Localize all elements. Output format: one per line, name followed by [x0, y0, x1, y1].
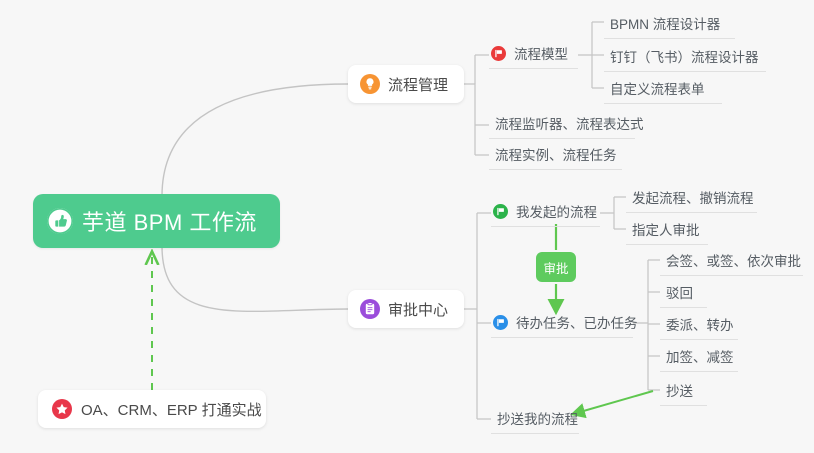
leaf-delegate-transfer[interactable]: 委派、转办 — [660, 312, 738, 340]
mindmap-canvas: 芋道 BPM 工作流 流程管理 流程模型 BPMN 流程设计器 钉钉（飞书）流程… — [0, 0, 814, 453]
leaf-process-model[interactable]: 流程模型 — [489, 41, 578, 69]
leaf-label-my-initiated-process: 我发起的流程 — [516, 201, 597, 221]
branch-label-approval-center: 审批中心 — [388, 299, 448, 320]
root-node[interactable]: 芋道 BPM 工作流 — [33, 194, 280, 248]
clipboard-icon — [360, 299, 380, 319]
arrow-cc-to-cc-my-process — [573, 391, 653, 414]
root-label: 芋道 BPM 工作流 — [82, 205, 257, 237]
leaf-label-process-model: 流程模型 — [514, 43, 568, 63]
branch-node-process-management[interactable]: 流程管理 — [348, 65, 464, 103]
flag-icon — [491, 46, 506, 61]
connector-approval-center-trunk — [462, 213, 477, 419]
branch-node-approval-center[interactable]: 审批中心 — [348, 290, 464, 328]
leaf-reject[interactable]: 驳回 — [660, 280, 707, 308]
connector-root-to-process-management — [162, 84, 348, 196]
callout-label-integration: OA、CRM、ERP 打通实战 — [81, 399, 262, 420]
leaf-cc-my-process[interactable]: 抄送我的流程 — [491, 406, 579, 434]
leaf-start-cancel-process[interactable]: 发起流程、撤销流程 — [626, 185, 757, 213]
branch-label-process-management: 流程管理 — [388, 74, 448, 95]
leaf-todo-done-tasks[interactable]: 待办任务、已办任务 — [491, 310, 633, 338]
connector-process-model-trunk — [578, 22, 592, 88]
leaf-process-instance[interactable]: 流程实例、流程任务 — [489, 142, 622, 170]
leaf-custom-process-form[interactable]: 自定义流程表单 — [604, 76, 722, 104]
approval-badge[interactable]: 审批 — [536, 252, 576, 282]
leaf-my-initiated-process[interactable]: 我发起的流程 — [491, 199, 600, 227]
leaf-assignee-approval[interactable]: 指定人审批 — [626, 217, 708, 245]
leaf-bpmn-designer[interactable]: BPMN 流程设计器 — [604, 11, 735, 39]
flag-icon — [493, 315, 508, 330]
leaf-add-remove-sign[interactable]: 加签、减签 — [660, 344, 738, 372]
callout-node-integration[interactable]: OA、CRM、ERP 打通实战 — [38, 390, 266, 428]
flag-icon — [493, 204, 508, 219]
leaf-cc[interactable]: 抄送 — [660, 378, 707, 406]
connector-root-to-approval-center — [162, 246, 348, 311]
leaf-label-todo-done-tasks: 待办任务、已办任务 — [516, 312, 638, 332]
thumbs-up-icon — [47, 208, 73, 234]
lightbulb-icon — [360, 74, 380, 94]
star-icon — [52, 399, 72, 419]
leaf-dingtalk-designer[interactable]: 钉钉（飞书）流程设计器 — [604, 44, 766, 72]
leaf-countersign[interactable]: 会签、或签、依次审批 — [660, 248, 803, 276]
leaf-process-listener[interactable]: 流程监听器、流程表达式 — [489, 111, 635, 139]
connector-my-initiated-trunk — [600, 197, 614, 229]
approval-badge-label: 审批 — [543, 258, 568, 277]
